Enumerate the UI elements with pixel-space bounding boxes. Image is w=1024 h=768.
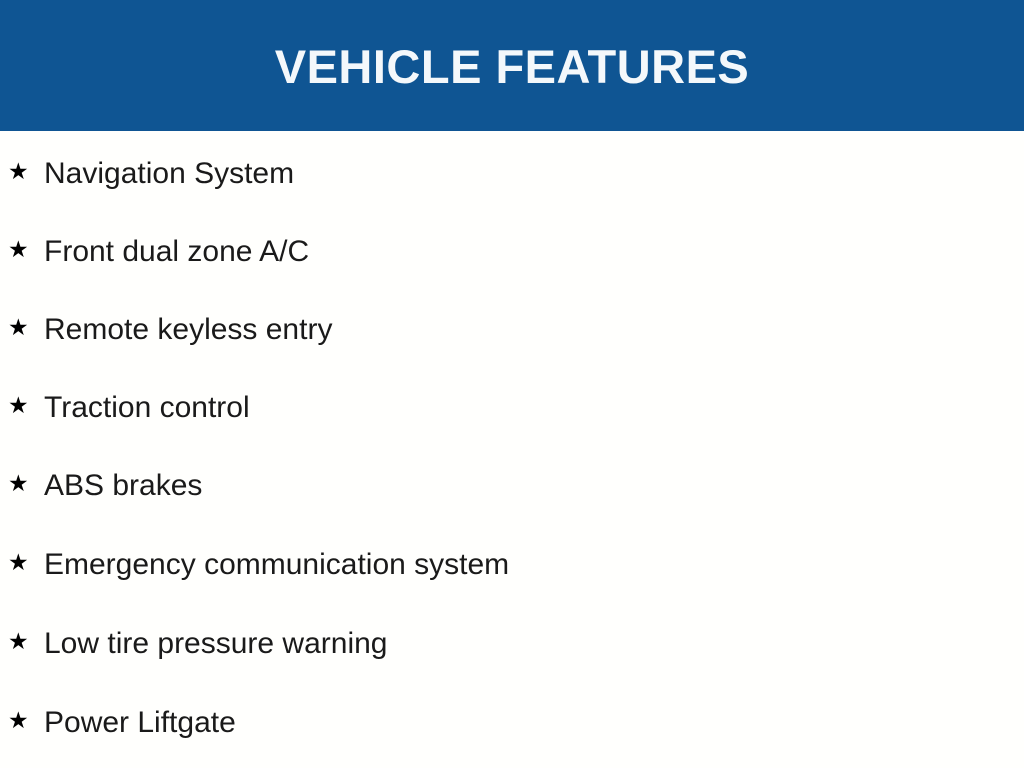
list-item: ★ Traction control [0,387,1024,427]
star-bullet-icon: ★ [8,317,32,340]
feature-label: Emergency communication system [44,548,509,581]
feature-label: ABS brakes [44,469,202,502]
star-bullet-icon: ★ [8,161,32,184]
feature-label: Low tire pressure warning [44,627,388,660]
star-bullet-icon: ★ [8,710,32,733]
list-item: ★ Emergency communication system [0,544,1024,584]
header-banner: VEHICLE FEATURES [0,0,1024,131]
list-item: ★ Remote keyless entry [0,309,1024,349]
feature-list: ★ Navigation System ★ Front dual zone A/… [0,131,1024,768]
star-bullet-icon: ★ [8,552,32,575]
star-bullet-icon: ★ [8,395,32,418]
feature-label: Power Liftgate [44,706,236,739]
list-item: ★ ABS brakes [0,465,1024,505]
feature-label: Front dual zone A/C [44,235,309,268]
list-item: ★ Front dual zone A/C [0,231,1024,271]
vehicle-features-slide: VEHICLE FEATURES ★ Navigation System ★ F… [0,0,1024,768]
feature-label: Remote keyless entry [44,313,332,346]
page-title: VEHICLE FEATURES [275,43,750,90]
feature-label: Traction control [44,391,250,424]
star-bullet-icon: ★ [8,473,32,496]
star-bullet-icon: ★ [8,631,32,654]
star-bullet-icon: ★ [8,239,32,262]
feature-label: Navigation System [44,157,294,190]
list-item: ★ Power Liftgate [0,702,1024,742]
list-item: ★ Low tire pressure warning [0,623,1024,663]
list-item: ★ Navigation System [0,153,1024,193]
